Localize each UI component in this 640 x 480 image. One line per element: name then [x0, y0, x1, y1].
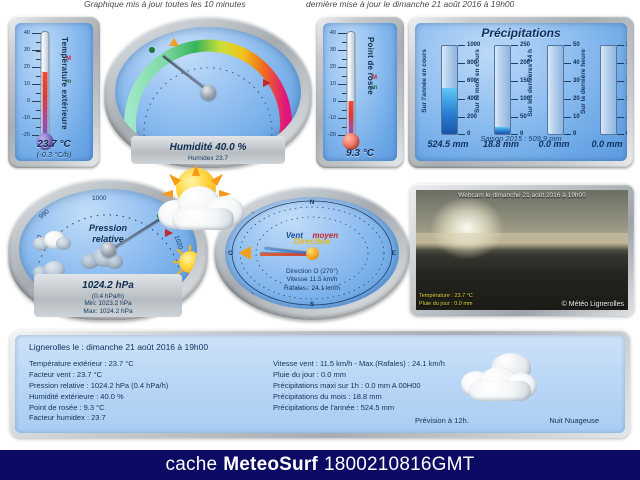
precip-tick-24h-20: 20: [573, 96, 580, 102]
webcam-overlay-rain: Pluie du jour : 0.0 mm: [419, 301, 473, 308]
precip-axis-label-24h: Sur les dernières 24 h: [527, 49, 534, 117]
dew-tick-10: 10: [330, 81, 336, 87]
summary-rain-month-line: Précipitations du mois : 18.8 mm: [273, 392, 445, 403]
temperature-value: 23.7 °C: [37, 139, 70, 150]
compass-west: O: [228, 250, 233, 257]
humidity-humidex: Humidex 23.7: [131, 155, 285, 162]
wind-gust-text: Rafales : 24.1 km/h: [225, 285, 399, 293]
wind-readout: Direction O (270°) Vitesse 11.5 km/h Raf…: [225, 268, 399, 293]
dew-tick-20: 20: [330, 64, 336, 70]
dew-tick-m20: -20: [328, 132, 336, 138]
dewpoint-thermometer-face: 40 30 20 10 0 -10 -20 M m Point de rosée: [323, 23, 397, 161]
compass-southwest: SO: [245, 293, 254, 299]
precip-tick-24h-40: 40: [573, 60, 580, 66]
pressure-max-marker: [165, 229, 173, 237]
footer-code: 1800210816GMT: [324, 454, 474, 476]
dew-tick-0: 0: [333, 98, 336, 104]
dew-tick-m10: -10: [328, 115, 336, 121]
wind-title-3: Direction: [294, 236, 331, 246]
summary-inner: Lignerolles le : dimanche 21 août 2016 à…: [15, 335, 625, 433]
pressure-min: Min: 1023.2 hPa: [34, 300, 182, 307]
humidity-readout: Humidité 40.0 % Humidex 23.7: [131, 136, 285, 164]
temperature-tube: [41, 31, 50, 139]
summary-rain-day-line: Pluie du jour : 0.0 mm: [273, 370, 445, 381]
compass-southeast: SE: [373, 293, 381, 299]
compass-south: S: [310, 301, 314, 308]
precip-ticks-month: 250 200 150 100 50 0: [511, 45, 541, 135]
humidity-max-marker: [169, 38, 179, 46]
current-conditions-icon: [150, 168, 258, 230]
dewpoint-title: Point de rosée: [366, 37, 375, 95]
forecast-value: Nuit Nuageuse: [549, 416, 599, 425]
footer-brand: MeteoSurf: [223, 454, 318, 476]
temp-tick-0: 0: [27, 98, 30, 104]
precip-tube-hour: [600, 45, 617, 135]
summary-right-column: Vitesse vent : 11.5 km/h - Max.(Rafales)…: [273, 359, 445, 413]
summary-rain-year-line: Précipitations de l'année : 524.5 mm: [273, 403, 445, 414]
temperature-scale: 40 30 20 10 0 -10 -20: [15, 31, 41, 139]
compass-north: N: [310, 199, 315, 206]
temperature-thermometer-face: 40 30 20 10 0 -10 -20 M m Température ex…: [15, 23, 93, 161]
pressure-hub: [101, 242, 116, 257]
pressure-rate: (0.4 hPa/h): [34, 293, 182, 300]
pressure-value: 1024.2 hPa: [82, 280, 134, 291]
precip-fill-month: [495, 127, 510, 134]
precip-tick-year-1000: 1000: [467, 42, 480, 48]
webcam-panel[interactable]: Webcam le dimanche 21 août 2016 à 19h00 …: [410, 184, 634, 316]
dewpoint-tube: [347, 31, 356, 139]
precip-tick-hour-25: 2.5: [626, 42, 627, 48]
precip-tube-year: [441, 45, 458, 135]
webcam-overlay-temp: Température : 23.7 °C: [419, 293, 473, 300]
compass-east: E: [392, 250, 396, 257]
precip-tick-24h-30: 30: [573, 78, 580, 84]
dewpoint-value: 9.3 °C: [346, 148, 374, 159]
precip-fill-year: [442, 88, 457, 134]
temperature-mercury: [43, 72, 48, 138]
webcam-image: Webcam le dimanche 21 août 2016 à 19h00 …: [416, 190, 628, 310]
temperature-rate: (-0.3 °C/h): [15, 150, 93, 159]
forecast-label: Prévision à 12h.: [415, 416, 469, 425]
temperature-readout: 23.7 °C (-0.3 °C/h): [15, 139, 93, 159]
precip-ticks-hour: 2.5 2 1.5 1 .5 0: [617, 45, 627, 135]
temp-tick-m20: -20: [22, 132, 30, 138]
header-update-interval: Graphique mis à jour toutes les 10 minut…: [84, 0, 246, 12]
precip-axis-label-hour: Sur la dernière heure: [580, 49, 587, 114]
summary-humidity-line: Humidité extérieure : 40.0 %: [29, 392, 168, 403]
precipitation-panel[interactable]: Précipitations Sur l'année en cours 1000…: [408, 16, 634, 168]
pressure-readout: 1024.2 hPa (0.4 hPa/h) Min: 1023.2 hPa M…: [34, 274, 182, 317]
wind-avg-marker: [239, 246, 251, 260]
dew-tick-40: 40: [330, 30, 336, 36]
wind-direction-text: Direction O (270°): [225, 268, 399, 276]
webcam-horizon-haze: [416, 233, 628, 255]
humidity-hub: [201, 85, 216, 100]
precip-tick-hour-1: 1: [626, 96, 627, 102]
precip-tube-24h: [547, 45, 564, 135]
humidity-value: Humidité 40.0 %: [170, 142, 247, 153]
humidity-min-marker: [149, 47, 155, 53]
precip-tube-month: [494, 45, 511, 135]
summary-humidex-line: Facteur humidex : 23.7: [29, 413, 168, 424]
weather-dashboard: Graphique mis à jour toutes les 10 minut…: [0, 0, 640, 480]
forecast-cloud-icon: [461, 353, 539, 409]
humidity-gauge-panel[interactable]: Humidité 40.0 % Humidex 23.7: [104, 16, 312, 168]
temperature-thermometer-panel[interactable]: 40 30 20 10 0 -10 -20 M m Température ex…: [8, 16, 100, 168]
precip-tick-hour-05: .5: [626, 114, 627, 120]
summary-windchill-line: Facteur vent : 23.7 °C: [29, 370, 168, 381]
temp-tick-30: 30: [24, 47, 30, 53]
summary-temp-line: Température extérieur : 23.7 °C: [29, 359, 168, 370]
pressure-max: Max: 1024.2 hPa: [34, 308, 182, 315]
temperature-title: Température extérieure: [60, 37, 69, 130]
wind-speed-text: Vitesse 11.5 km/h: [225, 276, 399, 284]
precipitation-face: Précipitations Sur l'année en cours 1000…: [415, 23, 627, 161]
pressure-tick-1000: 1000: [92, 195, 106, 202]
dewpoint-readout: 9.3 °C: [323, 148, 397, 159]
summary-panel: Lignerolles le : dimanche 21 août 2016 à…: [10, 330, 630, 438]
header-last-update: dernière mise à jour le dimanche 21 août…: [306, 0, 514, 12]
dewpoint-scale: 40 30 20 10 0 -10 -20: [323, 31, 347, 139]
cloud-shape-icon: [158, 184, 250, 230]
webcam-timestamp: Webcam le dimanche 21 août 2016 à 19h00: [416, 192, 628, 199]
summary-wind-line: Vitesse vent : 11.5 km/h - Max.(Rafales)…: [273, 359, 445, 370]
humidity-alarm-marker: [263, 79, 271, 87]
precip-ticks-year: 1000 800 600 400 200 0: [458, 45, 488, 135]
precip-ticks-24h: 50 40 30 20 10 0: [564, 45, 594, 135]
precip-tick-month-50: 50: [520, 114, 527, 120]
summary-dewpoint-line: Point de rosée : 9.3 °C: [29, 403, 168, 414]
precip-tick-hour-15: 1.5: [626, 78, 627, 84]
webcam-overlay-data: Température : 23.7 °C Pluie du jour : 0.…: [419, 293, 473, 308]
temp-tick-20: 20: [24, 64, 30, 70]
webcam-credit: © Météo Lignerolles: [562, 301, 624, 308]
precipitation-title: Précipitations: [415, 26, 627, 40]
footer-prefix: cache: [166, 454, 218, 476]
wind-hub: [306, 247, 319, 260]
dewpoint-thermometer-panel[interactable]: 40 30 20 10 0 -10 -20 M m Point de rosée: [316, 16, 404, 168]
precip-tick-24h-50: 50: [573, 42, 580, 48]
compass-northeast: NE: [373, 209, 381, 215]
footer-bar: cache MeteoSurf 1800210816GMT: [0, 450, 640, 480]
summary-heading: Lignerolles le : dimanche 21 août 2016 à…: [29, 342, 208, 352]
precip-tick-hour-2: 2: [626, 60, 627, 66]
precip-tick-month-250: 250: [520, 42, 530, 48]
precip-axis-label-year: Sur l'année en cours: [421, 49, 428, 113]
precip-tick-year-200: 200: [467, 114, 477, 120]
summary-rain-max-line: Précipitations maxi sur 1h : 0.0 mm A 00…: [273, 381, 445, 392]
summary-pressure-line: Pression relative : 1024.2 hPa (0.4 hPa/…: [29, 381, 168, 392]
temp-tick-m10: -10: [22, 115, 30, 121]
precip-axis-label-month: Sur le mois en cours: [474, 49, 481, 113]
precip-season-note: Saison 2015 : 509.9 mm: [415, 134, 627, 143]
temp-tick-10: 10: [24, 81, 30, 87]
temp-tick-40: 40: [24, 30, 30, 36]
dew-tick-30: 30: [330, 47, 336, 53]
precip-tick-24h-10: 10: [573, 114, 580, 120]
summary-left-column: Température extérieur : 23.7 °C Facteur …: [29, 359, 168, 424]
